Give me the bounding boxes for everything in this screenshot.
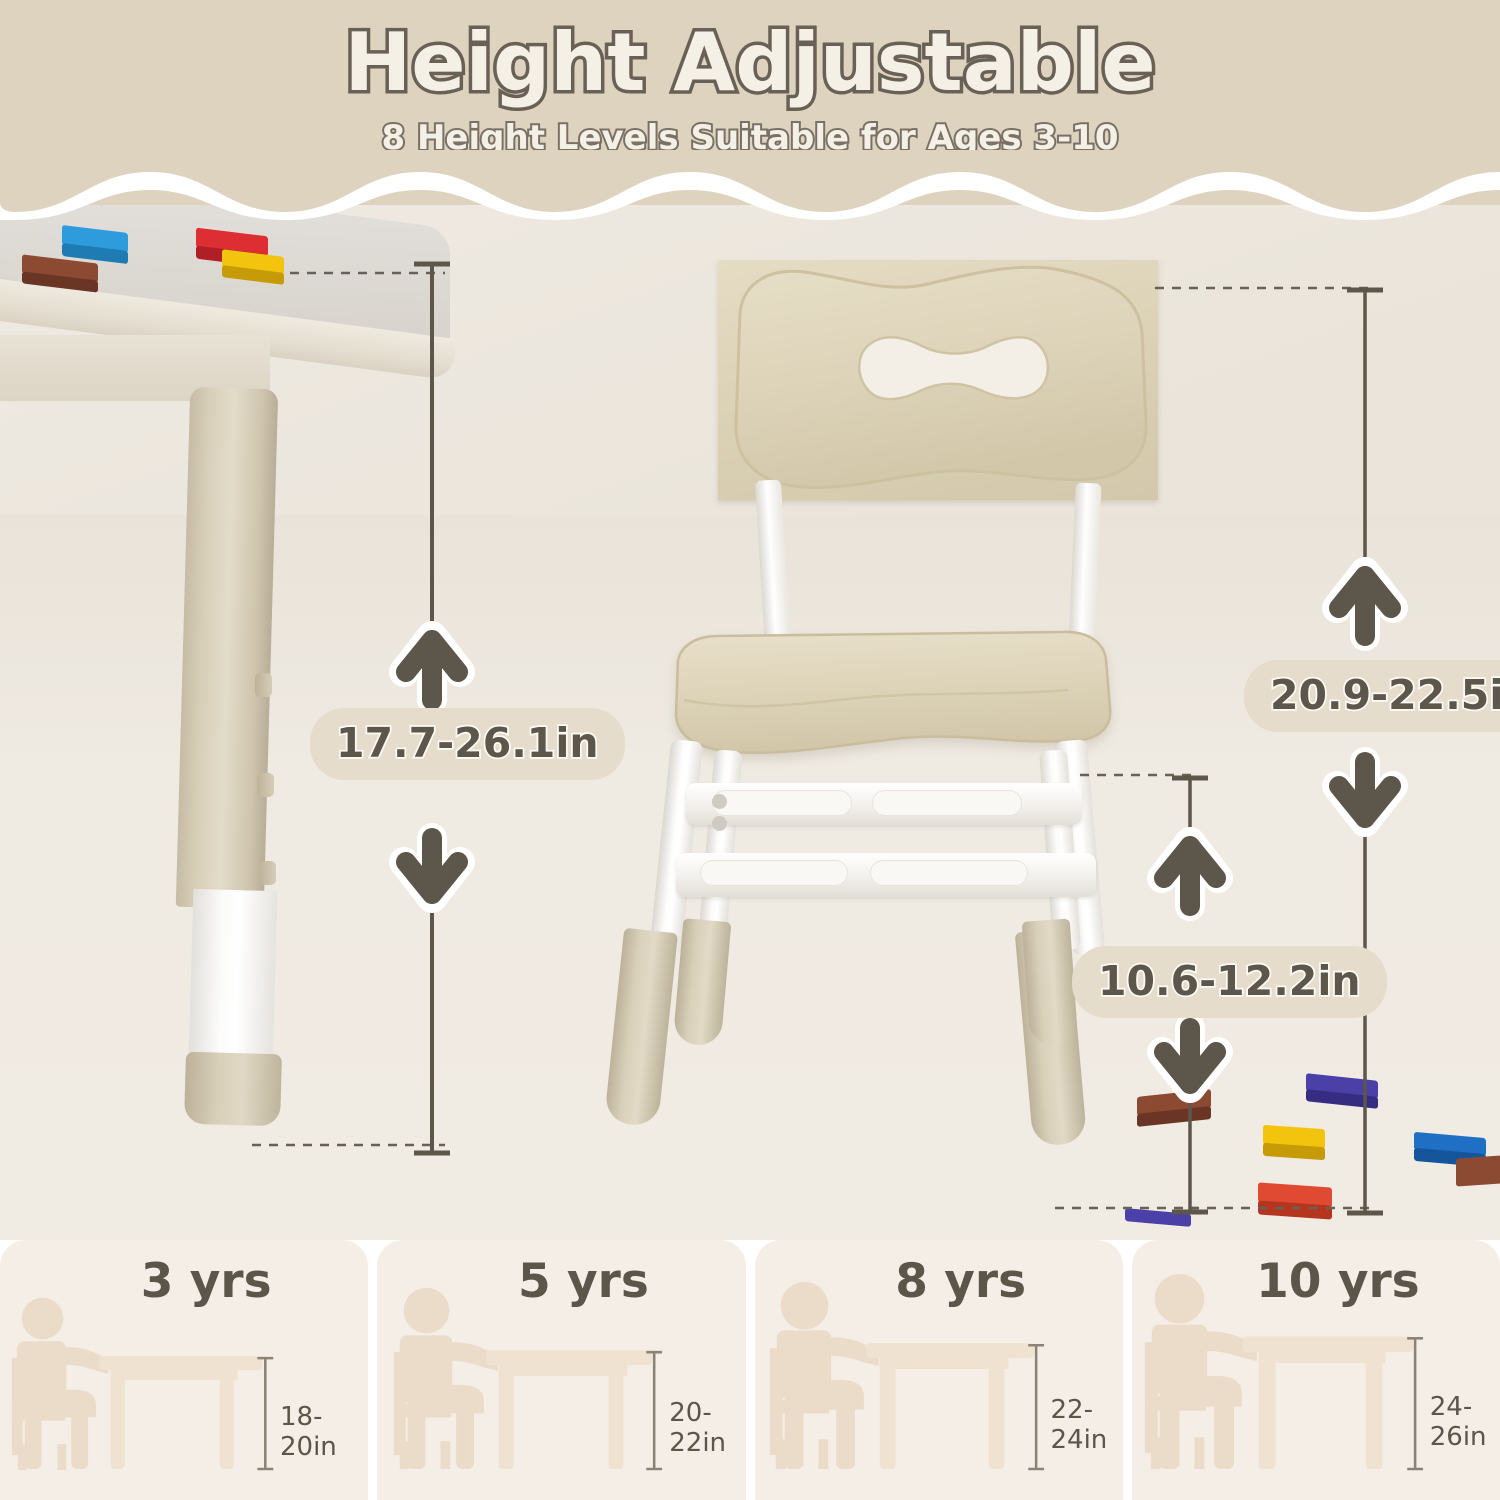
age-card-10yrs[interactable]: 10 yrs — [1132, 1240, 1500, 1500]
age-card-figure-8yrs — [755, 1240, 1123, 1500]
table-leg-upper — [176, 387, 278, 909]
dimension-label-table-height: 17.7-26.1in — [310, 708, 625, 780]
table-leg-lower — [189, 889, 278, 1066]
chair-seat — [648, 630, 1118, 765]
block-brown2 — [1456, 1155, 1500, 1186]
age-card-figure-5yrs — [377, 1240, 745, 1500]
chair-screw — [712, 816, 727, 831]
table-foot-cap — [184, 1052, 282, 1127]
chair-foot-back-right — [1022, 918, 1079, 1046]
age-card-height: 18-20in — [280, 1402, 368, 1462]
age-card-5yrs[interactable]: 5 yrs — [377, 1240, 745, 1500]
age-card-8yrs[interactable]: 8 yrs — [755, 1240, 1123, 1500]
age-card-3yrs[interactable]: 3 yrs — [0, 1240, 368, 1500]
scalloped-divider — [0, 150, 1500, 220]
age-card-figure-10yrs — [1132, 1240, 1500, 1500]
leg-adjust-button — [255, 673, 272, 697]
age-card-height: 20-22in — [669, 1398, 745, 1458]
chair-screw — [712, 794, 727, 809]
leg-adjust-button — [257, 773, 274, 797]
chair-crossbar-upper — [686, 783, 1082, 825]
age-card-height: 24-26in — [1430, 1392, 1500, 1452]
age-card-height: 22-24in — [1051, 1395, 1123, 1455]
infographic-root: 17.7-26.1in 20.9-22.5in 10.6-12.2in Heig… — [0, 0, 1500, 1500]
chair-backrest — [718, 260, 1158, 500]
chair-crossbar-lower — [676, 853, 1096, 897]
leg-adjust-button — [259, 861, 276, 885]
dimension-label-chair-back-height: 20.9-22.5in — [1244, 660, 1500, 732]
dimension-label-chair-seat-height: 10.6-12.2in — [1072, 946, 1387, 1018]
age-card-row: 3 yrs — [0, 1240, 1500, 1500]
page-title: Height Adjustable — [0, 16, 1500, 109]
